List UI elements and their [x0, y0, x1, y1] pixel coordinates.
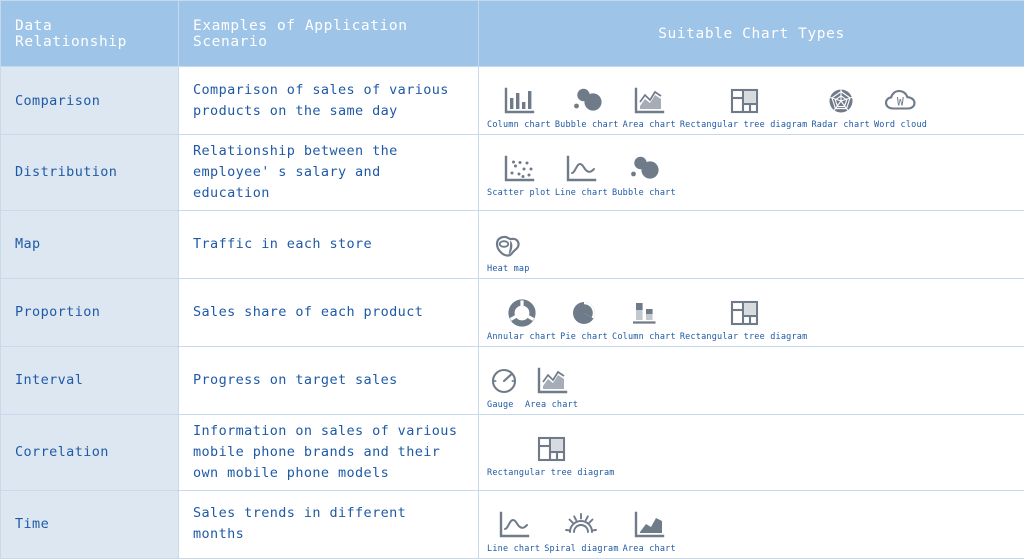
data-relationship-cell: Comparison	[1, 67, 179, 135]
chart-type-label: Annular chart	[487, 332, 556, 342]
chart-type-label: Area chart	[525, 400, 578, 410]
data-relationship-cell: Distribution	[1, 135, 179, 211]
suitable-chart-types-cell: Line chart Spiral diagram Area chart	[479, 490, 1024, 558]
chart-type-item[interactable]: Area chart	[623, 498, 676, 554]
bubble-chart-icon	[612, 142, 676, 186]
application-scenario-cell: Sales trends in different months	[179, 490, 479, 558]
chart-type-icon-list: Gauge Area chart	[479, 354, 1024, 410]
header-suitable-chart-types: Suitable Chart Types	[479, 1, 1024, 67]
treemap-icon	[487, 422, 615, 466]
line-chart-icon	[555, 142, 608, 186]
chart-type-label: Rectangular tree diagram	[487, 468, 615, 478]
application-scenario-cell: Information on sales of various mobile p…	[179, 414, 479, 490]
table-row: MapTraffic in each store Heat map	[1, 210, 1024, 278]
chart-type-item[interactable]: W Word cloud	[874, 74, 927, 130]
chart-type-icon-list: Column chart Bubble chart Area chart Rec…	[479, 74, 1024, 130]
chart-type-item[interactable]: Bubble chart	[555, 74, 619, 130]
chart-type-item[interactable]: Rectangular tree diagram	[680, 286, 808, 342]
svg-text:W: W	[896, 94, 903, 108]
suitable-chart-types-cell: Rectangular tree diagram	[479, 414, 1024, 490]
chart-type-label: Area chart	[623, 120, 676, 130]
application-scenario-cell: Comparison of sales of various products …	[179, 67, 479, 135]
chart-type-label: Bubble chart	[555, 120, 619, 130]
area-chart-icon	[623, 74, 676, 118]
suitable-chart-types-cell: Heat map	[479, 210, 1024, 278]
treemap-icon	[680, 74, 808, 118]
chart-type-item[interactable]: Spiral diagram	[544, 498, 618, 554]
data-relationship-cell: Map	[1, 210, 179, 278]
chart-type-item[interactable]: Pie chart	[560, 286, 608, 342]
data-relationship-cell: Proportion	[1, 278, 179, 346]
stacked-column-chart-icon	[612, 286, 676, 330]
chart-type-label: Rectangular tree diagram	[680, 332, 808, 342]
chart-type-label: Scatter plot	[487, 188, 551, 198]
table-row: DistributionRelationship between the emp…	[1, 135, 1024, 211]
word-cloud-icon: W	[874, 74, 927, 118]
table-header: Data Relationship Examples of Applicatio…	[1, 1, 1024, 67]
chart-type-item[interactable]: Column chart	[612, 286, 676, 342]
chart-type-item[interactable]: Rectangular tree diagram	[487, 422, 615, 478]
data-relationship-cell: Interval	[1, 346, 179, 414]
data-relationship-cell: Time	[1, 490, 179, 558]
heat-map-icon	[487, 218, 530, 262]
chart-type-label: Column chart	[487, 120, 551, 130]
chart-type-icon-list: Annular chart Pie chart Column chart Rec…	[479, 286, 1024, 342]
gauge-icon	[487, 354, 521, 398]
chart-type-item[interactable]: Line chart	[487, 498, 540, 554]
line-chart-icon	[487, 498, 540, 542]
suitable-chart-types-cell: Gauge Area chart	[479, 346, 1024, 414]
area-chart-icon	[623, 498, 676, 542]
chart-type-icon-list: Line chart Spiral diagram Area chart	[479, 498, 1024, 554]
chart-type-item[interactable]: Radar chart	[811, 74, 870, 130]
scatter-plot-icon	[487, 142, 551, 186]
column-chart-icon	[487, 74, 551, 118]
table-row: ComparisonComparison of sales of various…	[1, 67, 1024, 135]
application-scenario-cell: Sales share of each product	[179, 278, 479, 346]
chart-type-item[interactable]: Rectangular tree diagram	[680, 74, 808, 130]
application-scenario-cell: Relationship between the employee' s sal…	[179, 135, 479, 211]
chart-type-item[interactable]: Gauge	[487, 354, 521, 410]
spiral-diagram-icon	[544, 498, 618, 542]
chart-type-label: Radar chart	[811, 120, 870, 130]
chart-type-label: Line chart	[555, 188, 608, 198]
bubble-chart-icon	[555, 74, 619, 118]
chart-type-item[interactable]: Annular chart	[487, 286, 556, 342]
chart-type-label: Gauge	[487, 400, 514, 410]
treemap-icon	[680, 286, 808, 330]
table-body: ComparisonComparison of sales of various…	[1, 67, 1024, 559]
chart-type-item[interactable]: Bubble chart	[612, 142, 676, 198]
chart-type-item[interactable]: Line chart	[555, 142, 608, 198]
chart-type-label: Word cloud	[874, 120, 927, 130]
header-row: Data Relationship Examples of Applicatio…	[1, 1, 1024, 67]
chart-selection-table-container: Data Relationship Examples of Applicatio…	[0, 0, 1024, 510]
table-row: CorrelationInformation on sales of vario…	[1, 414, 1024, 490]
chart-type-item[interactable]: Scatter plot	[487, 142, 551, 198]
chart-type-label: Column chart	[612, 332, 676, 342]
chart-type-item[interactable]: Area chart	[525, 354, 578, 410]
chart-type-label: Line chart	[487, 544, 540, 554]
chart-type-item[interactable]: Heat map	[487, 218, 530, 274]
chart-type-label: Area chart	[623, 544, 676, 554]
area-chart-icon	[525, 354, 578, 398]
header-application-scenario: Examples of Application Scenario	[179, 1, 479, 67]
suitable-chart-types-cell: Scatter plot Line chart Bubble chart	[479, 135, 1024, 211]
chart-type-label: Spiral diagram	[544, 544, 618, 554]
table-row: ProportionSales share of each product An…	[1, 278, 1024, 346]
radar-chart-icon	[811, 74, 870, 118]
application-scenario-cell: Progress on target sales	[179, 346, 479, 414]
chart-type-label: Pie chart	[560, 332, 608, 342]
chart-type-item[interactable]: Column chart	[487, 74, 551, 130]
data-relationship-cell: Correlation	[1, 414, 179, 490]
chart-selection-table: Data Relationship Examples of Applicatio…	[0, 0, 1024, 559]
chart-type-item[interactable]: Area chart	[623, 74, 676, 130]
table-row: TimeSales trends in different months Lin…	[1, 490, 1024, 558]
chart-type-icon-list: Heat map	[479, 218, 1024, 274]
chart-type-icon-list: Rectangular tree diagram	[479, 422, 1024, 478]
annular-chart-icon	[487, 286, 556, 330]
application-scenario-cell: Traffic in each store	[179, 210, 479, 278]
chart-type-label: Rectangular tree diagram	[680, 120, 808, 130]
chart-type-label: Heat map	[487, 264, 530, 274]
table-row: IntervalProgress on target sales Gauge A…	[1, 346, 1024, 414]
chart-type-label: Bubble chart	[612, 188, 676, 198]
suitable-chart-types-cell: Column chart Bubble chart Area chart Rec…	[479, 67, 1024, 135]
header-data-relationship: Data Relationship	[1, 1, 179, 67]
chart-type-icon-list: Scatter plot Line chart Bubble chart	[479, 142, 1024, 198]
suitable-chart-types-cell: Annular chart Pie chart Column chart Rec…	[479, 278, 1024, 346]
pie-chart-icon	[560, 286, 608, 330]
